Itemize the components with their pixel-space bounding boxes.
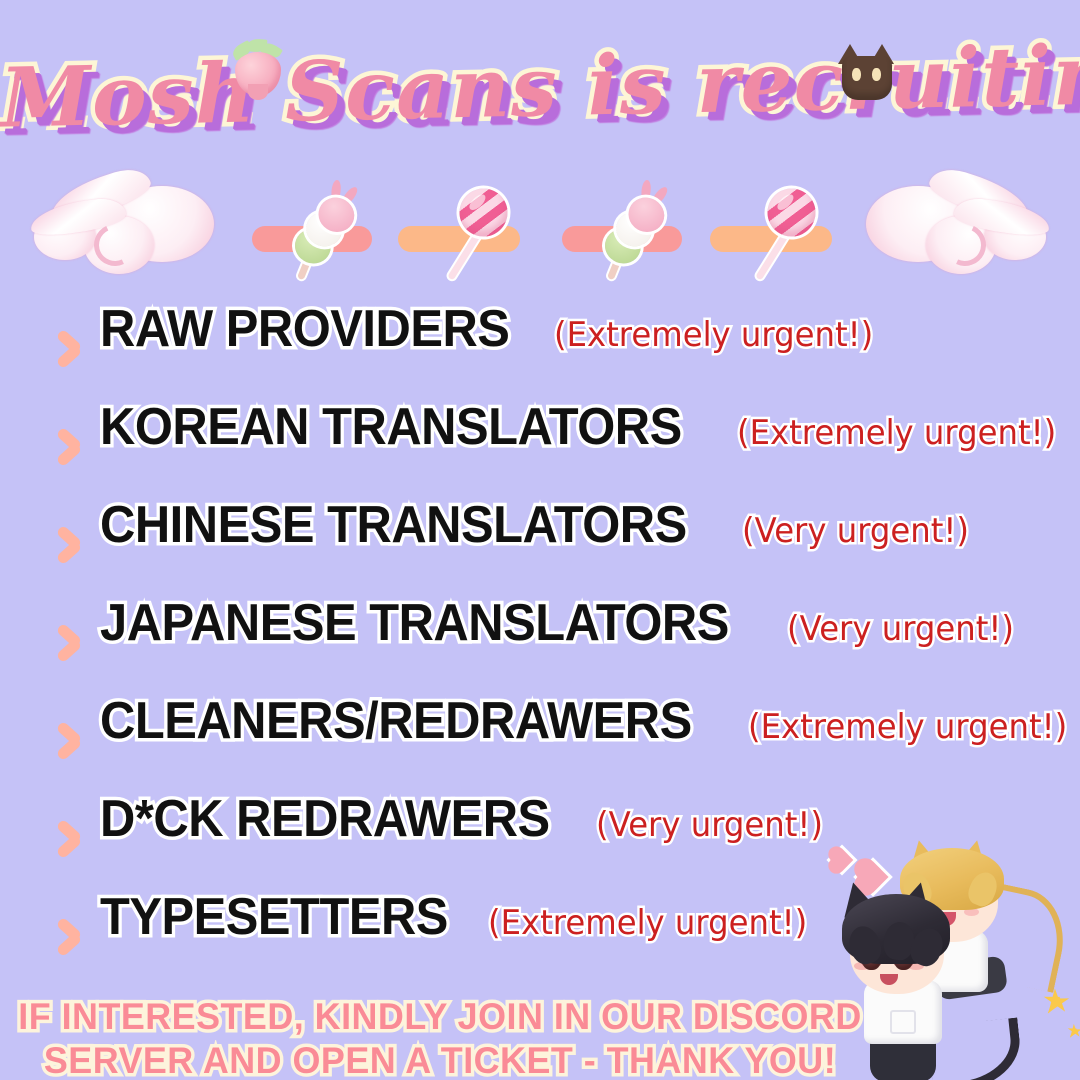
star-icon [1044,989,1070,1011]
swirl-lollipop-icon [426,177,529,296]
swirl-lollipop-icon [734,177,837,296]
list-item: CLEANERS/REDRAWERS (Extremely urgent!) [52,692,1052,790]
footer-line-2: SERVER AND OPEN A TICKET - THANK YOU! [13,1039,867,1080]
bunny-dango-skewer-icon [583,179,691,297]
role-title: D*CK REDRAWERS [100,790,550,848]
poster-title-block: Mosh Scans is recruiting! [0,26,1080,166]
pixel-cat-head-icon [836,44,898,102]
role-urgency-badge: (Very urgent!) [742,502,969,560]
cat-eye-left [852,68,861,81]
footer-call-to-action: IF INTERESTED, KINDLY JOIN IN OUR DISCOR… [0,995,880,1080]
chevron-right-icon [52,914,86,960]
role-urgency-badge: (Very urgent!) [596,796,823,854]
chevron-right-icon [52,522,86,568]
strawberry-tip [248,84,268,100]
chevron-right-icon [52,326,86,372]
chevron-right-icon [52,424,86,470]
role-title: CHINESE TRANSLATORS [100,496,687,554]
role-title: JAPANESE TRANSLATORS [100,594,729,652]
list-item: JAPANESE TRANSLATORS (Very urgent!) [52,594,1052,692]
list-item: KOREAN TRANSLATORS (Extremely urgent!) [52,398,1052,496]
chevron-right-icon [52,718,86,764]
chibi-dark-haired-catboy [832,882,982,1080]
recruitment-poster: Mosh Scans is recruiting! [0,0,1080,1080]
role-urgency-badge: (Extremely urgent!) [554,306,873,364]
chevron-right-icon [52,620,86,666]
role-urgency-badge: (Very urgent!) [787,600,1014,658]
angel-wing-cloud-left-icon [14,172,214,280]
strawberry-icon [228,36,288,98]
list-item: RAW PROVIDERS (Extremely urgent!) [52,300,1052,398]
heart-icon [831,849,854,872]
footer-line-1: IF INTERESTED, KINDLY JOIN IN OUR DISCOR… [13,995,867,1039]
cat-head [842,56,892,100]
cat-eye-right [872,68,881,81]
role-title: RAW PROVIDERS [100,300,509,358]
role-title: KOREAN TRANSLATORS [100,398,682,456]
role-title: CLEANERS/REDRAWERS [100,692,692,750]
bunny-dango-skewer-icon [273,179,381,297]
lollipop-candy [453,182,513,242]
lollipop-stick [755,229,791,280]
angel-wing-cloud-right-icon [866,172,1066,280]
role-title: TYPESETTERS [100,888,448,946]
role-urgency-badge: (Extremely urgent!) [748,698,1067,756]
role-urgency-badge: (Extremely urgent!) [488,894,807,952]
list-item: CHINESE TRANSLATORS (Very urgent!) [52,496,1052,594]
lollipop-stick [447,229,483,280]
lollipop-candy [761,182,821,242]
chibi-illustration [818,824,1080,1080]
chibi-shirt-pocket [890,1010,916,1034]
chevron-right-icon [52,816,86,862]
page-title: Mosh Scans is recruiting! [0,13,1080,158]
star-icon [1068,1024,1080,1036]
role-urgency-badge: (Extremely urgent!) [737,404,1056,462]
decorative-divider [0,166,1080,286]
